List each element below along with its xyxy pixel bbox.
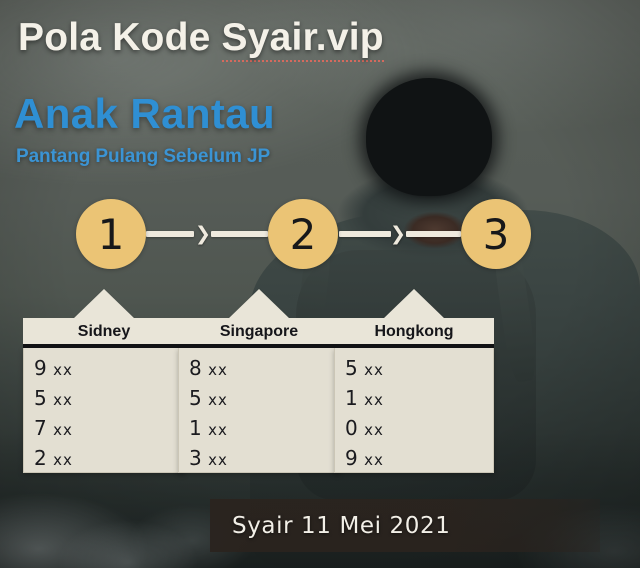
code-row: 0 xx <box>345 414 493 444</box>
code-row: 3 xx <box>189 444 339 474</box>
code-suffix: xx <box>53 391 73 409</box>
page-title-prefix: Pola Kode <box>18 16 222 59</box>
poster-canvas: Pola Kode Syair.vip Anak Rantau Pantang … <box>0 0 640 568</box>
card-pointer-icon <box>228 289 290 319</box>
card-pointer-icon <box>383 289 445 319</box>
code-digit: 9 <box>34 356 47 380</box>
code-row: 2 xx <box>34 444 184 474</box>
code-row: 1 xx <box>345 384 493 414</box>
card-title: Singapore <box>178 318 340 348</box>
code-suffix: xx <box>364 421 384 439</box>
code-digit: 2 <box>34 446 47 470</box>
page-title-domain: Syair.vip <box>222 16 384 62</box>
code-suffix: xx <box>53 421 73 439</box>
market-card-sidney[interactable]: Sidney 9 xx 5 xx 7 xx 2 xx <box>23 318 185 473</box>
code-digit: 9 <box>345 446 358 470</box>
code-row: 8 xx <box>189 354 339 384</box>
code-row: 5 xx <box>189 384 339 414</box>
step-circle-2[interactable]: 2 <box>268 199 338 269</box>
code-digit: 5 <box>345 356 358 380</box>
market-card-hongkong[interactable]: Hongkong 5 xx 1 xx 0 xx 9 xx <box>334 318 494 473</box>
card-code-list: 8 xx 5 xx 1 xx 3 xx <box>178 348 340 473</box>
code-digit: 5 <box>34 386 47 410</box>
code-digit: 7 <box>34 416 47 440</box>
card-pointer-icon <box>73 289 135 319</box>
card-title: Hongkong <box>334 318 494 348</box>
code-row: 1 xx <box>189 414 339 444</box>
page-title: Pola Kode Syair.vip <box>18 16 384 60</box>
footer-caption: Syair 11 Mei 2021 <box>232 513 450 539</box>
code-suffix: xx <box>364 451 384 469</box>
code-suffix: xx <box>208 361 228 379</box>
code-digit: 8 <box>189 356 202 380</box>
code-row: 7 xx <box>34 414 184 444</box>
code-suffix: xx <box>208 391 228 409</box>
tagline: Pantang Pulang Sebelum JP <box>16 146 270 168</box>
footer-banner: Syair 11 Mei 2021 <box>210 499 600 552</box>
code-digit: 0 <box>345 416 358 440</box>
card-title: Sidney <box>23 318 185 348</box>
code-digit: 5 <box>189 386 202 410</box>
code-suffix: xx <box>208 451 228 469</box>
code-digit: 3 <box>189 446 202 470</box>
code-row: 9 xx <box>34 354 184 384</box>
step-circle-3[interactable]: 3 <box>461 199 531 269</box>
code-suffix: xx <box>364 391 384 409</box>
headline: Anak Rantau <box>14 90 275 138</box>
card-code-list: 5 xx 1 xx 0 xx 9 xx <box>334 348 494 473</box>
card-code-list: 9 xx 5 xx 7 xx 2 xx <box>23 348 185 473</box>
code-row: 5 xx <box>34 384 184 414</box>
market-card-singapore[interactable]: Singapore 8 xx 5 xx 1 xx 3 xx <box>178 318 340 473</box>
code-suffix: xx <box>53 451 73 469</box>
code-suffix: xx <box>364 361 384 379</box>
code-suffix: xx <box>53 361 73 379</box>
step-circle-1[interactable]: 1 <box>76 199 146 269</box>
code-suffix: xx <box>208 421 228 439</box>
code-digit: 1 <box>345 386 358 410</box>
code-digit: 1 <box>189 416 202 440</box>
code-row: 5 xx <box>345 354 493 384</box>
code-row: 9 xx <box>345 444 493 474</box>
background-vignette <box>0 0 640 568</box>
